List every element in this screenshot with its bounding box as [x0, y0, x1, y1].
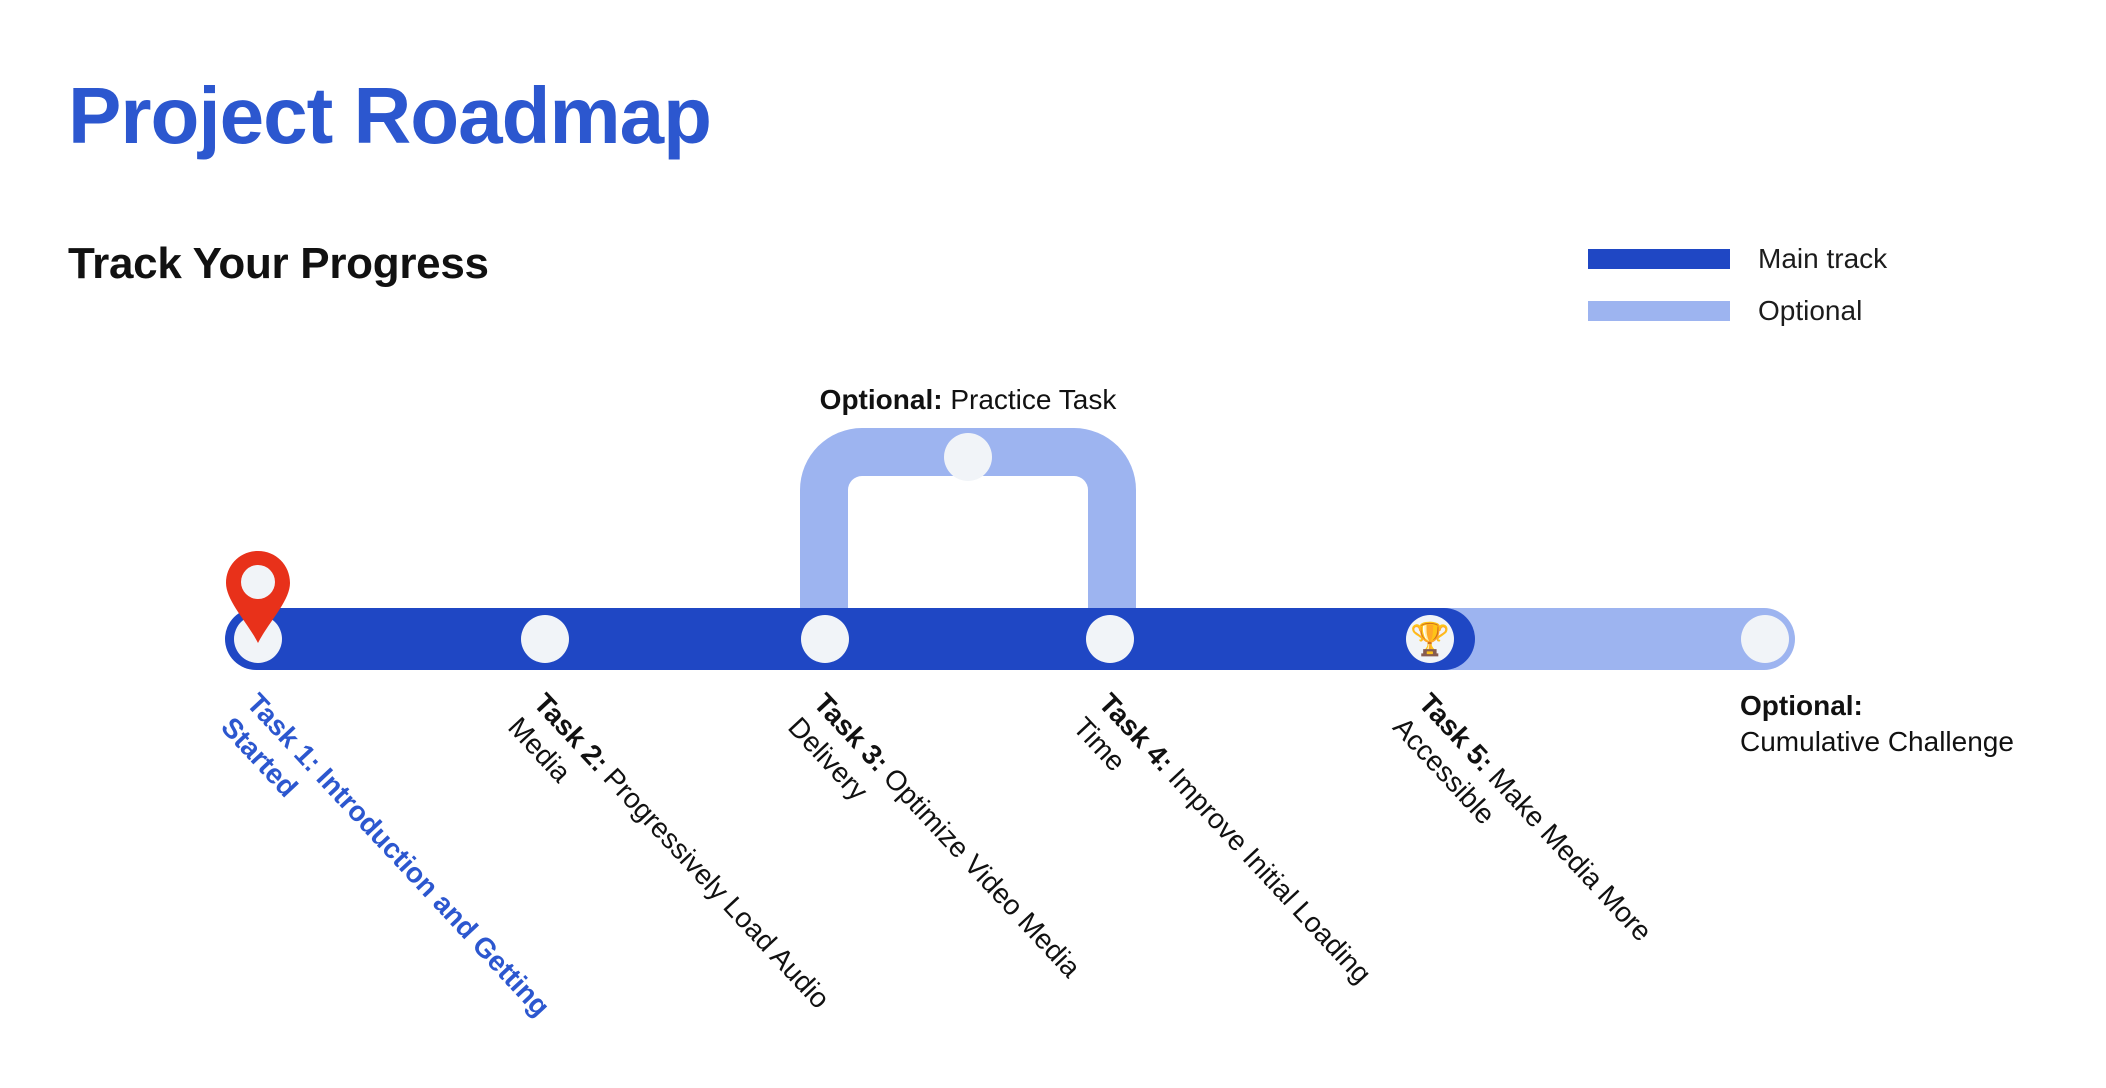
station-task-4[interactable]	[1086, 615, 1134, 663]
trophy-icon: 🏆	[1410, 623, 1450, 655]
main-track-segment	[225, 608, 1475, 670]
callout-optional-practice-task: Optional: Practice Task	[820, 382, 1117, 418]
station-optional-cumulative-challenge[interactable]	[1741, 615, 1789, 663]
callout-lead-optional-final: Optional:	[1740, 688, 2014, 724]
station-optional-practice-task[interactable]	[944, 433, 992, 481]
project-roadmap-page: Project Roadmap Track Your Progress Main…	[0, 0, 2106, 1088]
callout-text-cumulative-challenge: Cumulative Challenge	[1740, 724, 2014, 760]
callout-text-practice-task: Practice Task	[943, 384, 1117, 415]
callout-optional-cumulative-challenge: Optional: Cumulative Challenge	[1740, 688, 2014, 760]
station-task-2[interactable]	[521, 615, 569, 663]
callout-lead-optional: Optional:	[820, 384, 943, 415]
station-task-3[interactable]	[801, 615, 849, 663]
station-task-5[interactable]: 🏆	[1406, 615, 1454, 663]
station-task-1[interactable]	[234, 615, 282, 663]
